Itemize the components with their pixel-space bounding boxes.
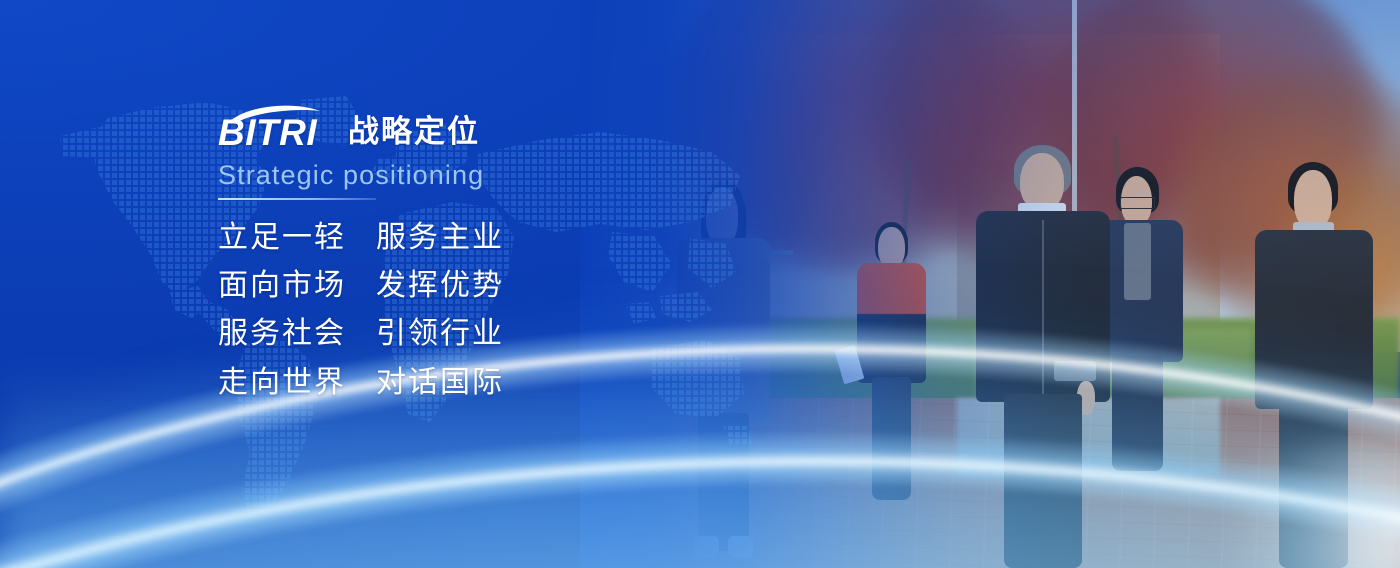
bitri-wordmark: BITRI xyxy=(218,114,317,151)
slogan-row: 面向市场 发挥优势 xyxy=(218,270,638,302)
slogan-row: 立足一轻 服务主业 xyxy=(218,222,638,254)
slogan-row: 服务社会 引领行业 xyxy=(218,318,638,350)
slogan-left: 立足一轻 xyxy=(218,222,346,254)
banner-content: BITRI 战略定位 Strategic positioning 立足一轻 服务… xyxy=(218,104,638,399)
bitri-logo: BITRI xyxy=(218,104,336,150)
slogan-right: 引领行业 xyxy=(376,318,504,350)
slogan-right: 对话国际 xyxy=(376,367,504,399)
slogan-left: 走向世界 xyxy=(218,367,346,399)
slogan-right: 发挥优势 xyxy=(376,270,504,302)
title-divider xyxy=(218,198,376,200)
slogan-left: 面向市场 xyxy=(218,270,346,302)
hero-banner: BITRI 战略定位 Strategic positioning 立足一轻 服务… xyxy=(0,0,1400,568)
slogan-right: 服务主业 xyxy=(376,222,504,254)
slogan-left: 服务社会 xyxy=(218,318,346,350)
brand-title-cn: 战略定位 xyxy=(348,117,480,150)
slogan-list: 立足一轻 服务主业 面向市场 发挥优势 服务社会 引领行业 走向世界 对话国际 xyxy=(218,222,638,400)
brand-lockup: BITRI 战略定位 xyxy=(218,104,638,150)
brand-subtitle-en: Strategic positioning xyxy=(218,161,638,191)
slogan-row: 走向世界 对话国际 xyxy=(218,367,638,399)
